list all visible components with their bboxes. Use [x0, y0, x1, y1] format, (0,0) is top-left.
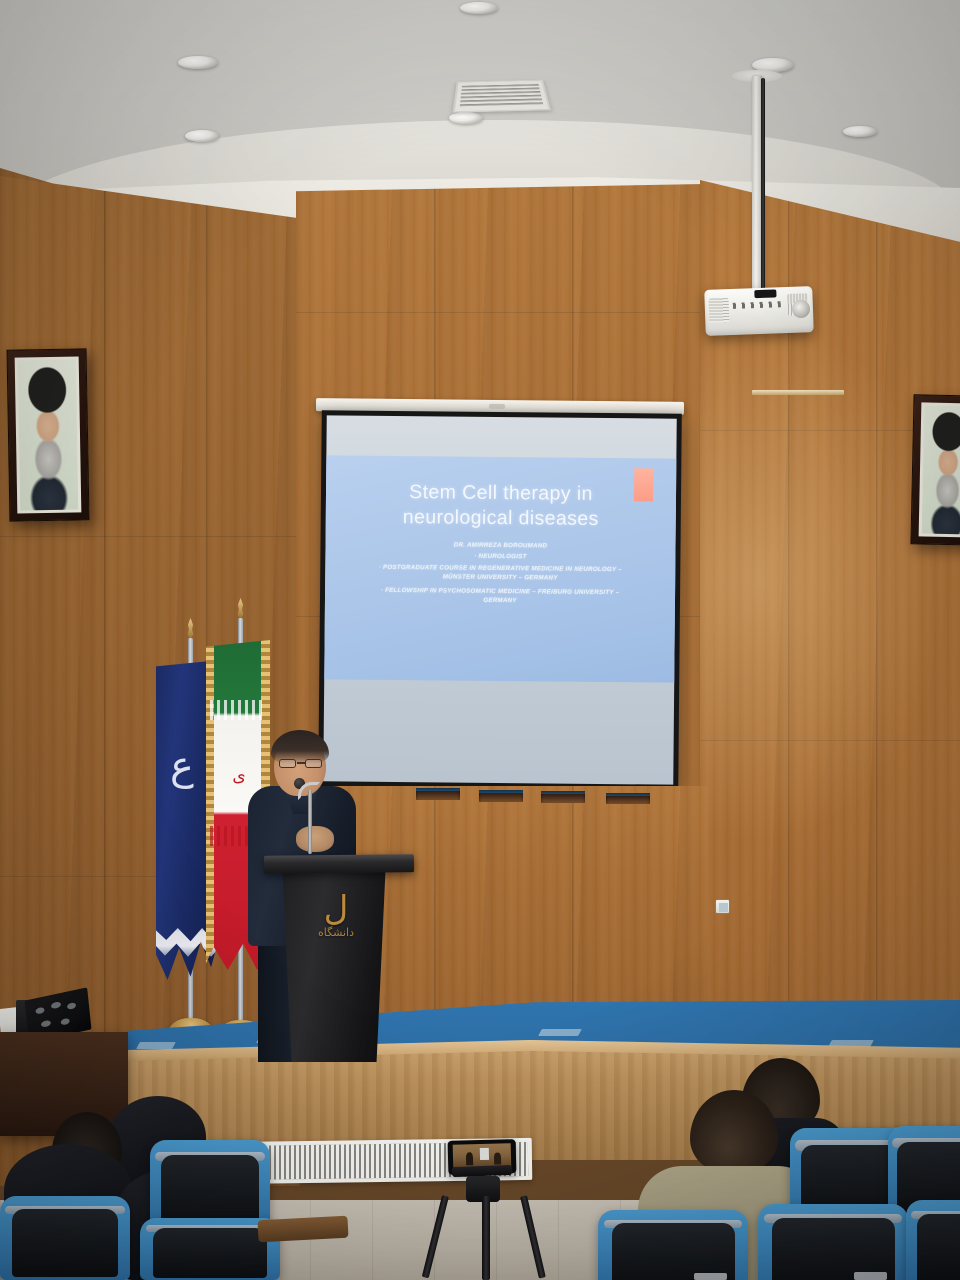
- framed-portrait-right: [910, 394, 960, 545]
- slide-title: Stem Cell therapy in neurological diseas…: [334, 479, 668, 532]
- slide-title-line-1: Stem Cell therapy in: [334, 479, 668, 507]
- floor-inlay: [538, 1029, 582, 1036]
- wall-inset-fixture: [606, 793, 650, 804]
- portrait-image: [18, 360, 79, 511]
- framed-portrait-left: [7, 348, 90, 521]
- wall-inset-fixture: [416, 788, 460, 800]
- auditorium-seat[interactable]: [906, 1200, 960, 1280]
- podium-emblem: ل دانشگاه: [312, 892, 360, 944]
- podium-emblem-glyph: ل: [324, 889, 349, 929]
- slide-title-line-2: neurological diseases: [334, 504, 668, 532]
- presentation-slide: Stem Cell therapy in neurological diseas…: [324, 455, 676, 682]
- downlight-icon: [449, 112, 483, 124]
- microphone-stem: [308, 790, 312, 854]
- wall-inset-fixture: [541, 791, 585, 803]
- slide-presenter-name: DR. AMIRREZA BOROUMAND: [335, 540, 665, 551]
- projector-button-row[interactable]: [733, 301, 781, 309]
- projector-vent-grill: [709, 298, 730, 323]
- auditorium-seat[interactable]: [598, 1210, 748, 1280]
- auditorium-seat[interactable]: [758, 1204, 908, 1280]
- roller-tab: [489, 404, 505, 409]
- speaker-glasses-icon: [279, 759, 323, 768]
- wall-trim-strip: [752, 390, 844, 395]
- projector-connector: [754, 289, 776, 298]
- screen-surface: Stem Cell therapy in neurological diseas…: [323, 415, 676, 784]
- floor-inlay: [136, 1042, 176, 1049]
- projector-lens-icon: [792, 300, 810, 318]
- slide-presenter-role: · NEUROLOGIST: [335, 551, 665, 562]
- podium-top-surface: [264, 854, 414, 874]
- pull-down-projection-screen: Stem Cell therapy in neurological diseas…: [318, 410, 682, 789]
- camera-tripod: [440, 1196, 532, 1280]
- wall-inset-fixture: [479, 790, 523, 802]
- speaker-hands: [296, 826, 334, 852]
- portrait-mat: [919, 402, 960, 537]
- ceiling-air-vent: [453, 80, 551, 113]
- seat-armrest: [257, 1216, 348, 1243]
- downlight-icon: [460, 2, 498, 14]
- auditorium-seat[interactable]: [0, 1196, 130, 1280]
- lecture-hall-photograph: Stem Cell therapy in neurological diseas…: [0, 0, 960, 1280]
- portrait-mat: [15, 356, 82, 513]
- podium-emblem-subtext: دانشگاه: [312, 927, 360, 939]
- downlight-icon: [843, 126, 877, 137]
- downlight-icon: [178, 56, 218, 69]
- projector-cable: [761, 78, 765, 294]
- flag-fringe-left: [206, 640, 214, 970]
- slide-credential-2b: GERMANY: [335, 595, 665, 606]
- portrait-image: [922, 405, 960, 534]
- flag-emblem-glyph: ع: [170, 746, 208, 820]
- flag-emblem-glyph: ی: [228, 766, 250, 792]
- downlight-icon: [185, 130, 219, 142]
- wall-switch-plate[interactable]: [715, 899, 730, 914]
